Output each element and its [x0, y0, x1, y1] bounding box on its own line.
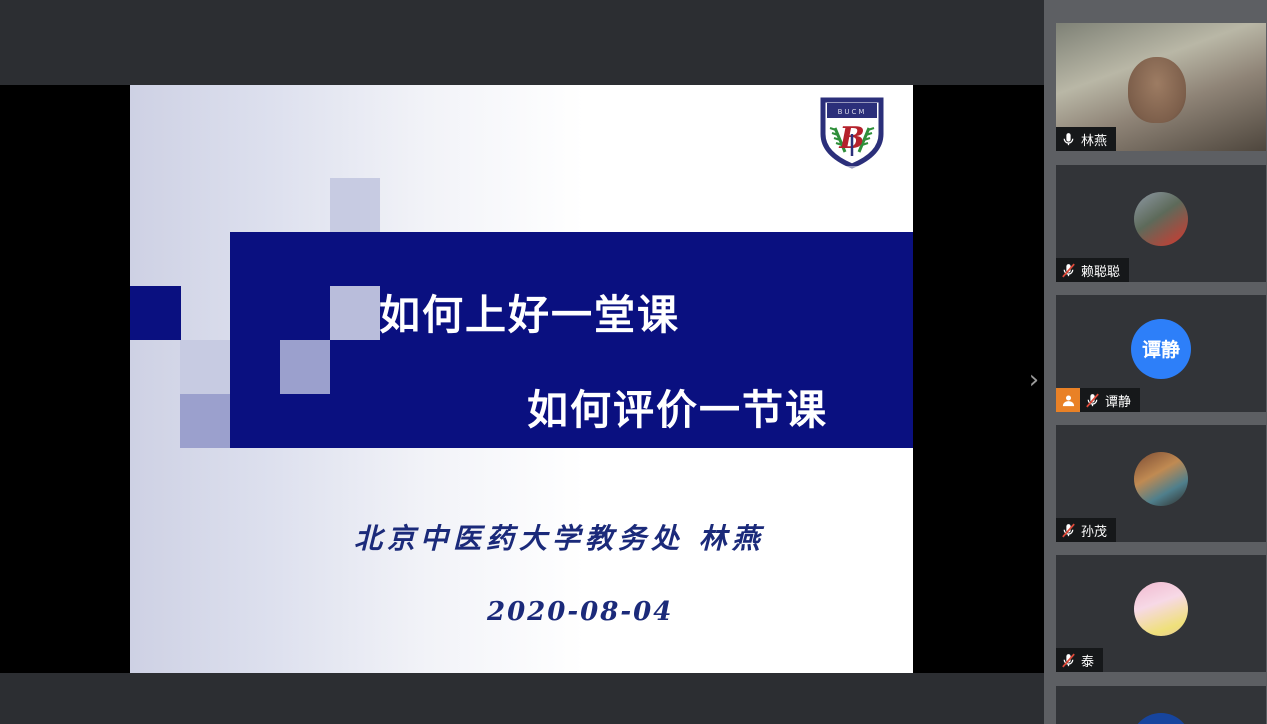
avatar — [1134, 452, 1188, 506]
meeting-window: BUCM B 如何上好一堂课 如何评价一节课 北 — [0, 0, 1267, 724]
avatar — [1134, 192, 1188, 246]
participant-strip[interactable]: 林燕 赖聪聪谭静 谭静 孙茂 泰 — [1044, 0, 1267, 724]
avatar: 谭静 — [1131, 319, 1191, 379]
participant-tile[interactable]: 赖聪聪 — [1056, 165, 1266, 282]
slide-presenter: 北京中医药大学教务处 林燕 — [354, 517, 765, 557]
slide-title-line-2: 如何评价一节课 — [527, 376, 828, 436]
participant-tile[interactable]: 泰 — [1056, 555, 1266, 672]
shared-screen-stage[interactable]: BUCM B 如何上好一堂课 如何评价一节课 北 — [0, 0, 1044, 724]
participant-name-bar: 泰 — [1056, 648, 1103, 672]
participant-name-bar: 孙茂 — [1056, 518, 1116, 542]
mosaic-square — [330, 178, 380, 232]
participant-tile[interactable]: 孙茂 — [1056, 425, 1266, 542]
participant-face — [1128, 57, 1186, 123]
participant-name-bar: 林燕 — [1056, 127, 1116, 151]
slide-date: 2020-08-04 — [487, 597, 673, 627]
participant-name: 赖聪聪 — [1080, 261, 1129, 280]
mosaic-square — [180, 394, 230, 448]
participant-tile[interactable]: 谭静 谭静 — [1056, 295, 1266, 412]
microphone-muted-icon — [1056, 258, 1080, 282]
university-crest-logo: BUCM B — [815, 94, 889, 194]
microphone-muted-icon — [1056, 518, 1080, 542]
participant-tile[interactable]: 林燕 — [1056, 23, 1266, 151]
participant-tile[interactable] — [1056, 686, 1266, 724]
presentation-slide: BUCM B 如何上好一堂课 如何评价一节课 北 — [130, 85, 913, 673]
host-person-icon — [1056, 388, 1080, 412]
slide-accent-square — [130, 286, 181, 340]
microphone-muted-icon — [1056, 648, 1080, 672]
slide-title-line-1: 如何上好一堂课 — [379, 281, 680, 341]
participant-name-bar: 谭静 — [1056, 388, 1140, 412]
participant-name-bar: 赖聪聪 — [1056, 258, 1129, 282]
avatar — [1131, 713, 1191, 724]
participant-name: 林燕 — [1080, 130, 1116, 149]
participant-name: 谭静 — [1104, 391, 1140, 410]
mosaic-square — [180, 340, 230, 394]
microphone-muted-icon — [1080, 388, 1104, 412]
mosaic-square — [280, 340, 330, 394]
participant-name: 孙茂 — [1080, 521, 1116, 540]
mosaic-square — [330, 286, 380, 340]
svg-text:BUCM: BUCM — [838, 108, 867, 116]
chevron-right-icon[interactable]: › — [1023, 363, 1045, 397]
avatar — [1134, 582, 1188, 636]
participant-name: 泰 — [1080, 651, 1103, 670]
stage-letterbox-bottom — [0, 673, 1044, 724]
stage-letterbox-top — [0, 0, 1044, 85]
microphone-icon — [1056, 127, 1080, 151]
